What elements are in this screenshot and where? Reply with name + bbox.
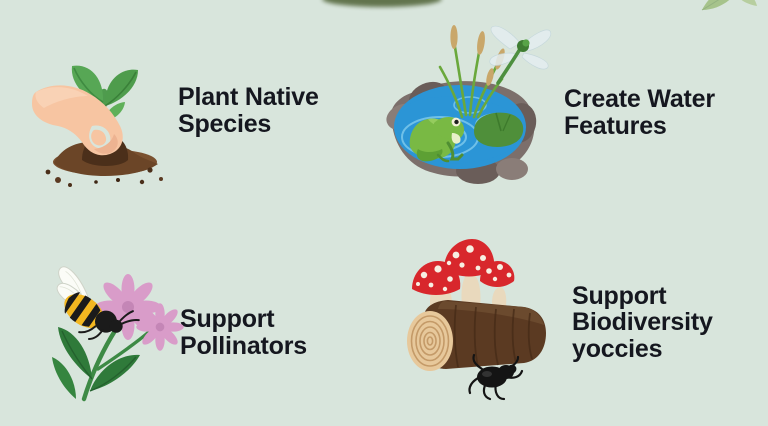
items-grid: Plant Native Species [0, 0, 768, 426]
item-support-biodiversity[interactable]: Support Biodiversity yoccies [384, 213, 768, 426]
item-label: Plant Native Species [178, 84, 319, 137]
item-label: Support Biodiversity yoccies [572, 283, 713, 363]
item-support-pollinators[interactable]: Support Pollinators [0, 213, 384, 426]
bee-on-flower-icon [32, 261, 182, 401]
item-create-water-features[interactable]: Create Water Features [384, 0, 768, 213]
log-mushrooms-beetle-icon [400, 247, 570, 407]
pond-frog-dragonfly-icon [370, 19, 560, 199]
item-label: Support Pollinators [180, 306, 307, 359]
hand-planting-seedling-icon [30, 30, 180, 190]
item-label: Create Water Features [564, 86, 715, 139]
infographic-canvas: Plant Native Species [0, 0, 768, 426]
item-plant-native-species[interactable]: Plant Native Species [0, 0, 384, 213]
